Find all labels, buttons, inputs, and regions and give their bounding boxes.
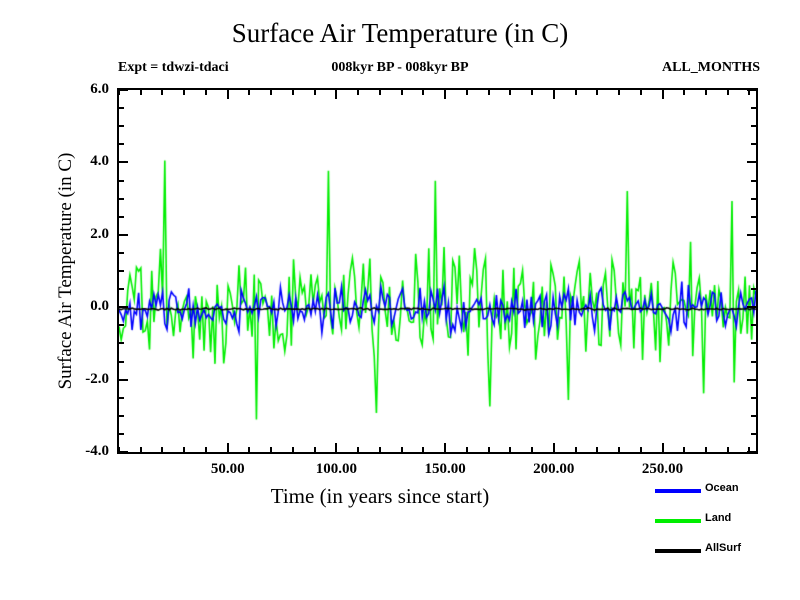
x-tick-minor-top: [705, 90, 707, 95]
x-tick-minor: [422, 447, 424, 452]
x-tick-minor: [509, 447, 511, 452]
timeseries-canvas: [119, 90, 756, 452]
x-tick-minor-top: [575, 90, 577, 95]
y-tick-minor: [119, 397, 124, 399]
x-tick-minor: [748, 447, 750, 452]
x-tick-major-top: [444, 90, 446, 99]
x-tick-major-top: [227, 90, 229, 99]
x-tick-minor: [531, 447, 533, 452]
legend-item: Land: [655, 512, 800, 542]
x-tick-major: [662, 443, 664, 452]
x-tick-minor-top: [727, 90, 729, 95]
x-tick-minor-top: [248, 90, 250, 95]
x-tick-minor-top: [357, 90, 359, 95]
y-tick-major-right: [747, 306, 756, 308]
x-tick-minor-top: [596, 90, 598, 95]
x-tick-major: [553, 443, 555, 452]
y-tick-minor-right: [751, 107, 756, 109]
x-tick-minor: [292, 447, 294, 452]
months-label: ALL_MONTHS: [662, 60, 760, 76]
x-tick-minor-top: [379, 90, 381, 95]
x-tick-minor-top: [292, 90, 294, 95]
x-tick-minor-top: [161, 90, 163, 95]
x-tick-minor-top: [488, 90, 490, 95]
legend-swatch-land: [655, 519, 701, 523]
x-tick-minor: [575, 447, 577, 452]
x-tick-minor: [683, 447, 685, 452]
y-tick-major: [119, 161, 128, 163]
x-tick-minor-top: [683, 90, 685, 95]
x-tick-minor: [488, 447, 490, 452]
y-tick-minor-right: [751, 397, 756, 399]
legend-swatch-allsurf: [655, 549, 701, 553]
y-tick-major: [119, 89, 128, 91]
y-tick-minor-right: [751, 415, 756, 417]
page-title: Surface Air Temperature (in C): [0, 18, 800, 49]
x-tick-minor: [401, 447, 403, 452]
x-tick-major: [444, 443, 446, 452]
y-tick-minor-right: [751, 143, 756, 145]
x-tick-minor: [618, 447, 620, 452]
x-tick-minor: [248, 447, 250, 452]
x-tick-minor: [118, 447, 120, 452]
legend-label: AllSurf: [705, 542, 741, 554]
legend: OceanLandAllSurf: [655, 482, 800, 572]
y-tick-minor-right: [751, 288, 756, 290]
y-tick-minor: [119, 342, 124, 344]
plot-area: [117, 88, 758, 454]
legend-label: Ocean: [705, 482, 739, 494]
x-tick-minor-top: [140, 90, 142, 95]
y-tick-minor: [119, 252, 124, 254]
legend-label: Land: [705, 512, 731, 524]
y-tick-major: [119, 234, 128, 236]
x-tick-minor-top: [509, 90, 511, 95]
x-tick-minor: [596, 447, 598, 452]
y-tick-minor-right: [751, 216, 756, 218]
y-axis-title: Surface Air Temperature (in C): [55, 101, 77, 441]
y-tick-minor-right: [751, 180, 756, 182]
x-tick-minor-top: [618, 90, 620, 95]
x-tick-minor: [314, 447, 316, 452]
x-tick-major-top: [553, 90, 555, 99]
y-tick-minor: [119, 270, 124, 272]
x-tick-minor: [270, 447, 272, 452]
x-tick-minor: [205, 447, 207, 452]
x-tick-minor: [357, 447, 359, 452]
x-tick-major-top: [662, 90, 664, 99]
y-tick-minor-right: [751, 270, 756, 272]
y-tick-minor: [119, 216, 124, 218]
x-tick-major-top: [335, 90, 337, 99]
x-tick-minor-top: [531, 90, 533, 95]
y-tick-minor-right: [751, 361, 756, 363]
x-tick-minor-top: [466, 90, 468, 95]
x-tick-label: 150.00: [400, 461, 490, 478]
y-tick-minor: [119, 143, 124, 145]
x-tick-minor: [640, 447, 642, 452]
x-tick-label: 200.00: [509, 461, 599, 478]
x-tick-minor-top: [401, 90, 403, 95]
y-tick-major: [119, 451, 128, 453]
x-tick-minor-top: [205, 90, 207, 95]
y-tick-minor-right: [751, 433, 756, 435]
x-tick-minor: [161, 447, 163, 452]
y-tick-minor-right: [751, 198, 756, 200]
x-tick-minor-top: [640, 90, 642, 95]
y-tick-major: [119, 379, 128, 381]
y-tick-minor: [119, 288, 124, 290]
y-tick-minor: [119, 125, 124, 127]
y-tick-minor-right: [751, 125, 756, 127]
x-tick-minor: [727, 447, 729, 452]
y-tick-label: 6.0: [47, 81, 109, 98]
x-tick-minor-top: [748, 90, 750, 95]
x-tick-major: [335, 443, 337, 452]
y-tick-minor-right: [751, 324, 756, 326]
y-tick-minor: [119, 415, 124, 417]
x-tick-minor: [140, 447, 142, 452]
y-tick-minor: [119, 361, 124, 363]
y-tick-minor-right: [751, 252, 756, 254]
y-tick-minor: [119, 180, 124, 182]
y-tick-minor: [119, 198, 124, 200]
x-tick-minor: [379, 447, 381, 452]
legend-item: Ocean: [655, 482, 800, 512]
x-tick-minor-top: [422, 90, 424, 95]
y-tick-minor: [119, 107, 124, 109]
x-tick-minor: [466, 447, 468, 452]
y-tick-major-right: [747, 234, 756, 236]
x-tick-label: 50.00: [183, 461, 273, 478]
x-tick-major: [227, 443, 229, 452]
chart-page: Surface Air Temperature (in C) Expt = td…: [0, 0, 800, 600]
x-tick-label: 100.00: [291, 461, 381, 478]
y-tick-minor: [119, 324, 124, 326]
x-tick-label: 250.00: [618, 461, 708, 478]
y-tick-major-right: [747, 379, 756, 381]
x-tick-minor: [183, 447, 185, 452]
legend-item: AllSurf: [655, 542, 800, 572]
y-tick-minor: [119, 433, 124, 435]
x-tick-minor-top: [118, 90, 120, 95]
y-tick-label: -4.0: [47, 443, 109, 460]
legend-swatch-ocean: [655, 489, 701, 493]
x-tick-minor: [705, 447, 707, 452]
x-tick-minor-top: [314, 90, 316, 95]
y-tick-major: [119, 306, 128, 308]
y-tick-minor-right: [751, 342, 756, 344]
x-tick-minor-top: [270, 90, 272, 95]
x-tick-minor-top: [183, 90, 185, 95]
x-axis-title: Time (in years since start): [0, 484, 760, 509]
y-tick-major-right: [747, 161, 756, 163]
